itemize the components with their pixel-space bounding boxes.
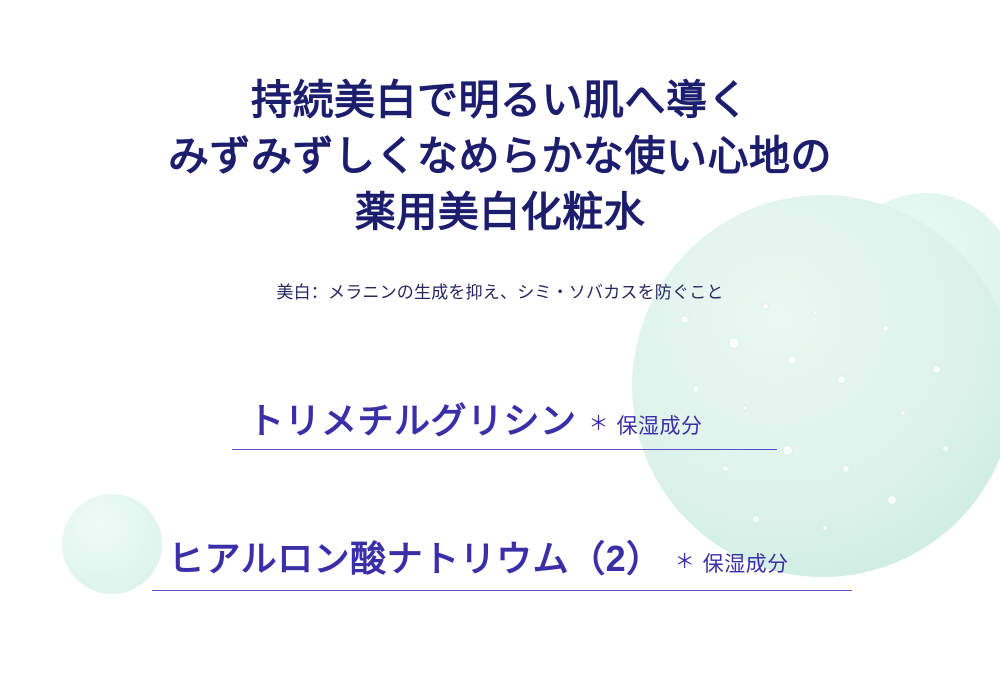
headline-line-1: 持続美白で明るい肌へ導く	[0, 72, 1000, 128]
ingredient-1-role: 保湿成分	[617, 415, 703, 438]
ingredient-2-underline	[152, 590, 852, 591]
bubble-left-icon	[62, 494, 162, 594]
ingredient-1-underline	[232, 449, 777, 450]
asterisk-icon: ＊	[675, 551, 695, 573]
ingredient-item-1: トリメチルグリシン＊保湿成分	[248, 392, 703, 444]
ingredient-item-2: ヒアルロン酸ナトリウム（2）＊保湿成分	[168, 530, 789, 582]
ingredient-2-role: 保湿成分	[703, 553, 789, 576]
page-title: 持続美白で明るい肌へ導く みずみずしくなめらかな使い心地の 薬用美白化粧水	[0, 72, 1000, 240]
headline-line-3: 薬用美白化粧水	[0, 184, 1000, 240]
asterisk-icon: ＊	[589, 413, 609, 435]
whitening-definition-note: 美白：メラニンの生成を抑え、シミ・ソバカスを防ぐこと	[0, 278, 1000, 303]
bubble-main-icon	[632, 195, 1000, 577]
poster-canvas: 持続美白で明るい肌へ導く みずみずしくなめらかな使い心地の 薬用美白化粧水 美白…	[0, 0, 1000, 687]
headline-line-2: みずみずしくなめらかな使い心地の	[0, 128, 1000, 184]
ingredient-1-name: トリメチルグリシン	[248, 400, 577, 441]
ingredient-2-name: ヒアルロン酸ナトリウム（2）	[168, 538, 663, 579]
